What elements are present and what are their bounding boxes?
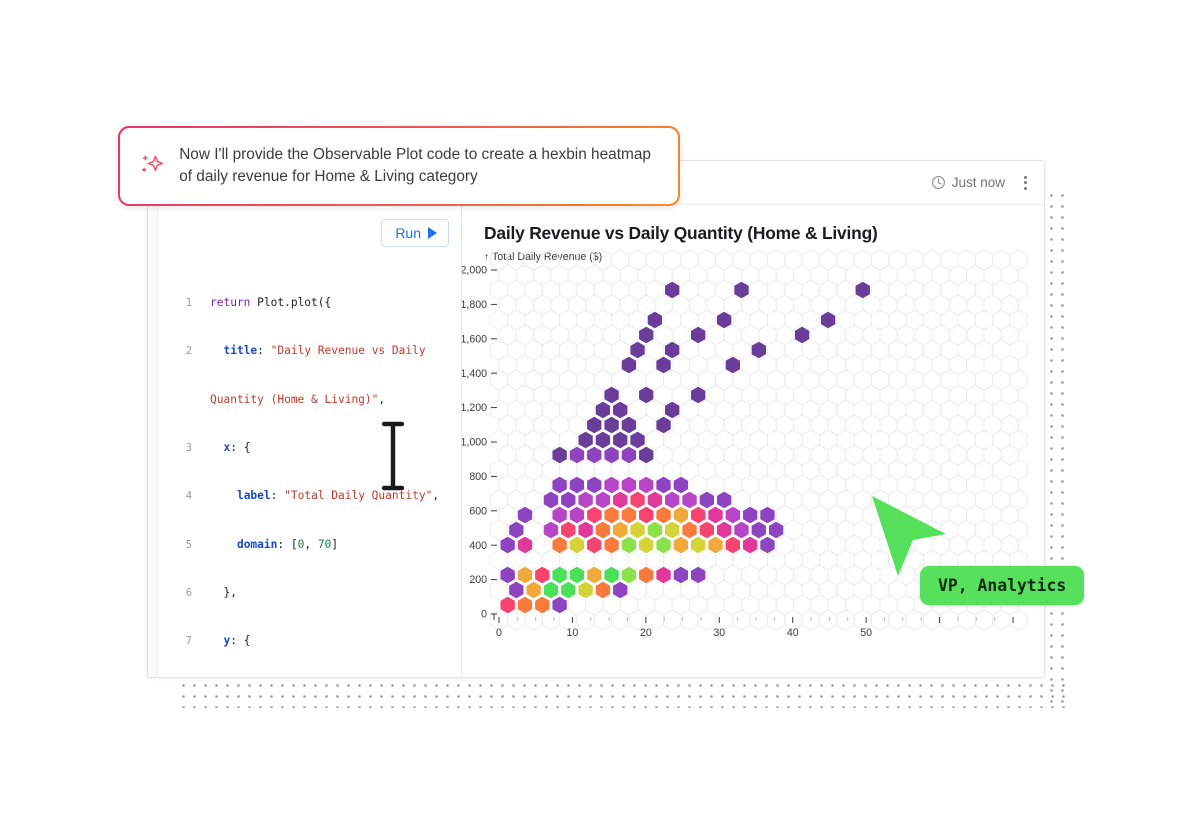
svg-text:40: 40 (787, 627, 799, 639)
assistant-callout: Now I'll provide the Observable Plot cod… (118, 126, 680, 206)
decorative-dot-pattern-bottom (176, 678, 1072, 708)
kebab-menu-icon[interactable] (1019, 173, 1032, 193)
assistant-callout-text: Now I'll provide the Observable Plot cod… (179, 144, 656, 188)
editor-gutter (148, 205, 158, 678)
decorative-dot-pattern-right (1044, 188, 1072, 708)
notebook-window: Just now Run 1return Plot.plot( (147, 160, 1045, 678)
collaborator-role-badge: VP, Analytics (920, 566, 1084, 605)
svg-text:30: 30 (713, 627, 725, 639)
chart-pane: Daily Revenue vs Daily Quantity (Home & … (462, 205, 1045, 678)
svg-text:2,000: 2,000 (462, 265, 487, 277)
svg-text:200: 200 (469, 574, 487, 586)
split-panes: Run 1return Plot.plot({ 2 title: "Daily … (148, 205, 1045, 678)
svg-text:0: 0 (481, 609, 487, 621)
play-icon (428, 227, 437, 239)
kebab-dot (1024, 176, 1027, 179)
timestamp-label: Just now (952, 175, 1005, 190)
svg-text:1,000: 1,000 (462, 437, 487, 449)
sparkle-icon (139, 153, 165, 179)
run-button-row: Run (381, 219, 449, 247)
svg-text:800: 800 (469, 471, 487, 483)
svg-text:600: 600 (469, 505, 487, 517)
run-button[interactable]: Run (381, 219, 449, 247)
svg-text:50: 50 (860, 627, 872, 639)
kebab-dot (1024, 181, 1027, 184)
svg-text:1,400: 1,400 (462, 368, 487, 380)
run-button-label: Run (395, 225, 421, 241)
code-listing[interactable]: 1return Plot.plot({ 2 title: "Daily Reve… (158, 263, 461, 678)
svg-text:20: 20 (640, 627, 652, 639)
svg-text:1,200: 1,200 (462, 402, 487, 414)
svg-text:10: 10 (567, 627, 579, 639)
svg-text:1,600: 1,600 (462, 333, 487, 345)
svg-text:400: 400 (469, 540, 487, 552)
clock-icon (931, 175, 946, 190)
svg-text:1,800: 1,800 (462, 299, 487, 311)
hexbin-plot: 02004006008001,0001,2001,4001,6001,8002,… (462, 205, 1045, 678)
code-editor-pane[interactable]: Run 1return Plot.plot({ 2 title: "Daily … (148, 205, 462, 678)
kebab-dot (1024, 187, 1027, 190)
svg-text:0: 0 (496, 627, 502, 639)
assistant-callout-inner: Now I'll provide the Observable Plot cod… (120, 128, 678, 204)
timestamp: Just now (931, 175, 1005, 190)
